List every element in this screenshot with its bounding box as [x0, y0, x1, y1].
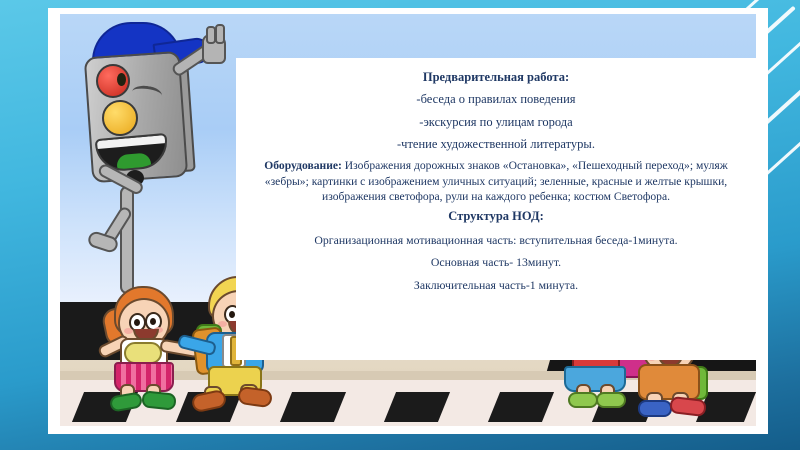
- bow-girl-shoe-right: [596, 392, 626, 408]
- structure-item-3: Заключительная часть-1 минута.: [296, 277, 696, 293]
- slide: Предварительная работа: -беседа о правил…: [0, 0, 800, 450]
- bow-girl-shoe-left: [568, 392, 598, 408]
- heading-structure-nod: Структура НОД:: [250, 207, 742, 226]
- cap-boy-shoe-left: [638, 400, 672, 417]
- structure-item-1: Организационная мотивационная часть: вст…: [296, 232, 696, 248]
- prep-item-1: -беседа о правилах поведения: [250, 89, 742, 109]
- illustration-photo: Предварительная работа: -беседа о правил…: [60, 14, 756, 426]
- traffic-light-yellow-lamp: [102, 100, 138, 136]
- girl-bow: [124, 342, 162, 364]
- slide-page: Предварительная работа: -беседа о правил…: [48, 8, 768, 434]
- prep-item-2: -экскурсия по улицам города: [250, 112, 742, 132]
- zebra-stripe: [488, 392, 554, 422]
- girl-cheek-left: [124, 328, 133, 334]
- traffic-light-mascot: [70, 20, 220, 320]
- heading-preparatory-work: Предварительная работа:: [250, 68, 742, 87]
- boy-shoe-right: [237, 386, 273, 409]
- girl-shoe-right: [141, 390, 177, 410]
- zebra-stripe: [384, 392, 450, 422]
- structure-item-2: Основная часть- 13минут.: [296, 254, 696, 270]
- mascot-hand: [202, 34, 226, 64]
- text-panel: Предварительная работа: -беседа о правил…: [236, 58, 756, 360]
- bow-girl-skirt: [564, 366, 626, 392]
- equipment-label: Оборудование:: [264, 159, 342, 172]
- equipment-paragraph: Оборудование: Изображения дорожных знако…: [250, 158, 742, 205]
- traffic-light-red-lamp: [96, 64, 130, 98]
- mascot-leg-standing: [120, 186, 134, 294]
- prep-item-3: -чтение художественной литературы.: [250, 134, 742, 154]
